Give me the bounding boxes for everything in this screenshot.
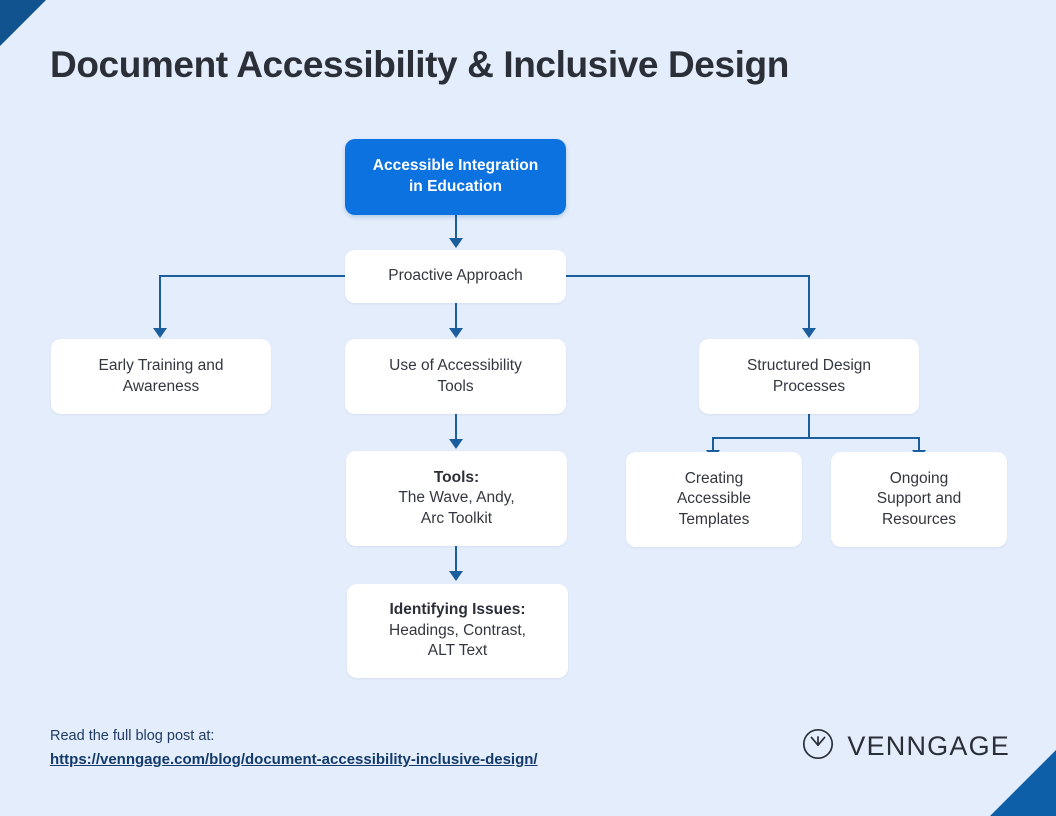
node-creating-accessible-templates[interactable]: Creating Accessible Templates [626,452,802,547]
node-identifying-issues[interactable]: Identifying Issues: Headings, Contrast, … [347,584,568,678]
node-accessible-integration-in-education[interactable]: Accessible Integration in Education [345,139,566,215]
venngage-circle-mark-icon [802,728,834,765]
node-ongoing-support-line3: Resources [882,511,956,528]
node-early-training-line1: Early Training and [99,357,224,374]
node-early-training-and-awareness[interactable]: Early Training and Awareness [51,339,271,414]
node-root-line1: Accessible Integration [373,157,538,174]
connector-structured-design-stem [808,414,810,439]
node-tools-list[interactable]: Tools: The Wave, Andy, Arc Toolkit [346,451,567,546]
node-use-of-accessibility-tools[interactable]: Use of Accessibility Tools [345,339,566,414]
venngage-wordmark: VENNGAGE [847,731,1010,762]
node-creating-templates-line3: Templates [679,511,750,528]
node-tools-list-lead: Tools: [398,468,514,489]
node-structured-design-line1: Structured Design [747,357,871,374]
node-creating-templates-line2: Accessible [677,490,751,507]
connector-tools-list-to-identifying-issues [455,546,457,574]
node-ongoing-support-line2: Support and [877,490,961,507]
node-tools-use-line2: Tools [437,378,473,395]
node-root-line2: in Education [409,178,502,195]
node-ongoing-support-and-resources[interactable]: Ongoing Support and Resources [831,452,1007,547]
footer-blog-url-link[interactable]: https://venngage.com/blog/document-acces… [50,750,538,770]
node-tools-use-line1: Use of Accessibility [389,357,522,374]
connector-proactive-to-tools-use [455,303,457,331]
page-title: Document Accessibility & Inclusive Desig… [50,44,789,86]
node-proactive-approach[interactable]: Proactive Approach [345,250,566,303]
node-tools-list-line1: The Wave, Andy, [398,489,514,506]
arrowhead-tools-list-to-identifying-issues [449,571,463,581]
node-ongoing-support-line1: Ongoing [890,470,949,487]
connector-proactive-to-structured-design [808,275,810,331]
connector-structured-design-horizontal-bus [713,437,920,439]
node-tools-list-line2: Arc Toolkit [421,510,492,527]
connector-tools-use-to-tools-list [455,414,457,442]
node-identifying-issues-line2: ALT Text [428,642,487,659]
node-identifying-issues-lead: Identifying Issues: [389,600,526,621]
corner-triangle-top-left-decoration [0,0,46,46]
node-proactive-label: Proactive Approach [388,266,522,287]
venngage-logo: VENNGAGE [802,728,1010,765]
infographic-canvas: Document Accessibility & Inclusive Desig… [0,0,1056,816]
node-identifying-issues-line1: Headings, Contrast, [389,622,526,639]
arrowhead-proactive-to-early-training [153,328,167,338]
node-structured-design-line2: Processes [773,378,845,395]
arrowhead-root-to-proactive [449,238,463,248]
node-early-training-line2: Awareness [123,378,199,395]
footer-read-line: Read the full blog post at: [50,728,214,744]
connector-proactive-to-early-training [159,275,161,331]
arrowhead-proactive-to-tools-use [449,328,463,338]
footer-blog-callout: Read the full blog post at: https://venn… [50,727,538,770]
node-creating-templates-line1: Creating [685,470,744,487]
arrowhead-proactive-to-structured-design [802,328,816,338]
arrowhead-tools-use-to-tools-list [449,439,463,449]
node-structured-design-processes[interactable]: Structured Design Processes [699,339,919,414]
